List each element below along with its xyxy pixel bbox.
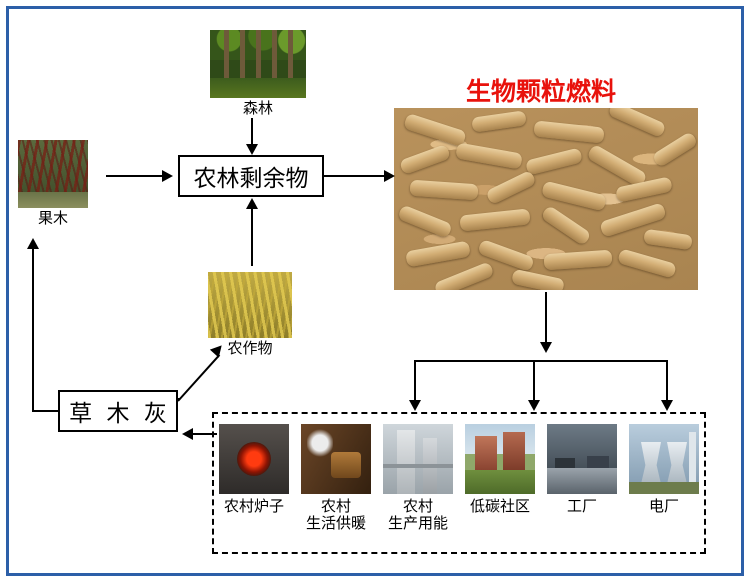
- application-label-rural-stove: 农村炉子: [211, 498, 297, 515]
- tree-trunk: [288, 30, 293, 84]
- arrow-pellets-down-head: [540, 342, 552, 353]
- application-label-low-carbon-community: 低碳社区: [458, 498, 542, 515]
- plant-sky: [383, 424, 453, 494]
- power-plant-photo: [629, 424, 699, 494]
- arrow-forest-to-residue-line: [251, 118, 253, 146]
- power-plant-ground: [629, 482, 699, 494]
- tree-trunk: [272, 30, 277, 84]
- rural-production-photo: [383, 424, 453, 494]
- factory-photo: [547, 424, 617, 494]
- arrow-crop-to-residue-head: [246, 198, 258, 209]
- ash-to-fruit-vertical: [32, 248, 34, 412]
- fruit-tree-caption: 果木: [18, 210, 88, 227]
- distribution-bus-line: [414, 360, 668, 362]
- plant-ash-box: 草 木 灰: [58, 390, 178, 432]
- steam: [307, 428, 333, 458]
- residential-building: [503, 432, 525, 470]
- cooking-pot: [331, 452, 361, 478]
- stove-fire-ring: [237, 442, 271, 476]
- application-label-rural-production: 农村 生产用能: [376, 498, 460, 532]
- application-label-factory: 工厂: [540, 498, 624, 515]
- pipeline: [383, 464, 453, 468]
- fruit-tree-photo: [18, 140, 88, 208]
- arrow-forest-to-residue-head: [246, 144, 258, 155]
- branch-line-left: [414, 360, 416, 402]
- forest-caption: 森林: [210, 100, 306, 117]
- fruit-ground: [18, 192, 88, 208]
- ash-left-stub: [32, 410, 58, 412]
- chimney: [689, 432, 696, 484]
- tree-trunk: [240, 30, 245, 84]
- community-lawn: [465, 470, 535, 494]
- application-label-power-plant: 电厂: [622, 498, 706, 515]
- arrow-pellets-down-line: [545, 292, 547, 344]
- crop-photo: [208, 272, 292, 338]
- branch-head-left: [409, 400, 421, 411]
- biomass-pellet-photo: [394, 108, 698, 290]
- residential-building: [475, 436, 497, 470]
- forest-ground: [210, 78, 306, 98]
- ash-to-fruit-head: [27, 238, 39, 249]
- branch-line-center: [533, 360, 535, 402]
- arrow-fruit-to-residue-head: [162, 170, 173, 182]
- crop-field: [208, 272, 292, 338]
- tree-trunk: [224, 30, 229, 84]
- process-tank: [397, 430, 415, 494]
- factory-floor: [547, 468, 617, 494]
- rural-stove-photo: [219, 424, 289, 494]
- arrow-residue-to-pellets-head: [384, 170, 395, 182]
- branch-head-center: [528, 400, 540, 411]
- tree-trunk: [256, 30, 261, 84]
- arrow-fruit-to-residue-line: [106, 175, 164, 177]
- arrow-apps-to-ash-head: [182, 428, 193, 440]
- application-label-rural-heating: 农村 生活供暖: [294, 498, 378, 532]
- arrow-residue-to-pellets-line: [324, 175, 386, 177]
- branch-head-right: [661, 400, 673, 411]
- forest-photo: [210, 30, 306, 98]
- page-title: 生物颗粒燃料: [466, 72, 616, 108]
- diagram-page: 森林 果木 农作物 农林剩余物 草 木 灰 生物颗粒燃料: [0, 0, 750, 582]
- rural-heating-photo: [301, 424, 371, 494]
- agroforestry-residue-box: 农林剩余物: [178, 155, 324, 197]
- arrow-crop-to-residue-line: [251, 208, 253, 266]
- branch-line-right: [666, 360, 668, 402]
- low-carbon-community-photo: [465, 424, 535, 494]
